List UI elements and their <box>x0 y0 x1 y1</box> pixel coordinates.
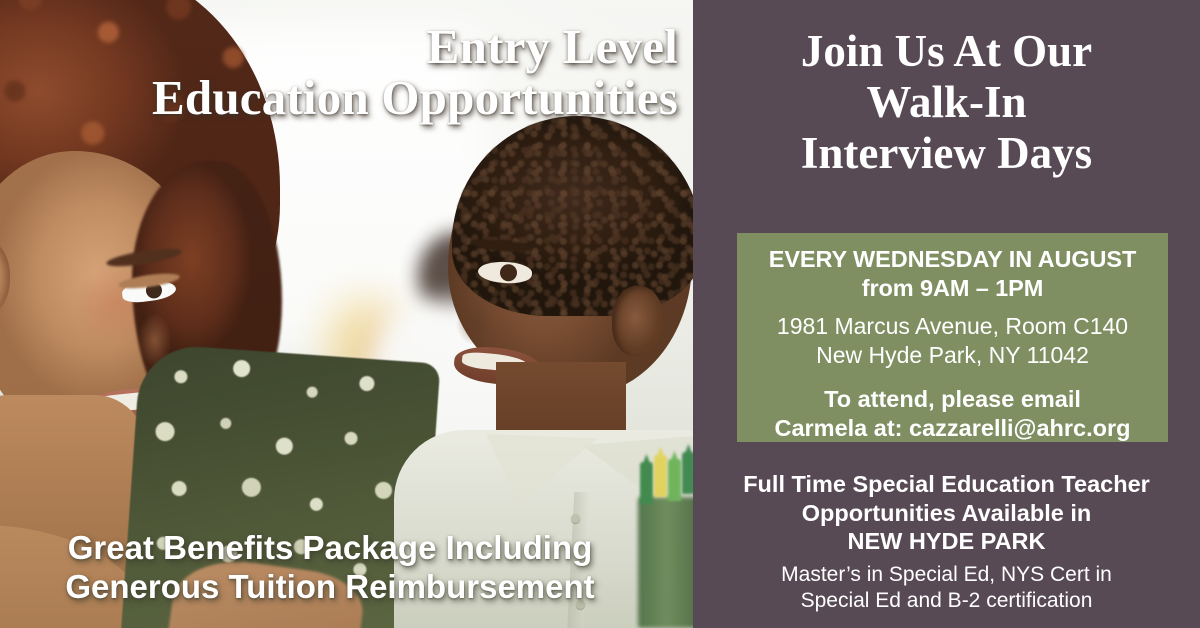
event-details-box: EVERY WEDNESDAY IN AUGUST from 9AM – 1PM… <box>737 233 1168 442</box>
event-schedule: EVERY WEDNESDAY IN AUGUST from 9AM – 1PM <box>745 245 1160 302</box>
recruitment-ad: Entry Level Education Opportunities Grea… <box>0 0 1200 628</box>
student-shirt-button <box>571 514 580 523</box>
marker-light-green <box>668 459 681 501</box>
left-headline: Entry Level Education Opportunities <box>0 22 678 124</box>
marker-dark-green <box>682 452 693 494</box>
student-nose <box>456 302 502 350</box>
event-address: 1981 Marcus Avenue, Room C140 New Hyde P… <box>745 312 1160 369</box>
benefits-text: Great Benefits Package Including Generou… <box>0 529 660 606</box>
marker-green <box>640 462 653 504</box>
role-description: Full Time Special Education Teacher Oppo… <box>709 470 1184 556</box>
event-contact[interactable]: To attend, please email Carmela at: cazz… <box>745 385 1160 443</box>
marker-yellow <box>654 455 667 497</box>
info-panel: Join Us At Our Walk-In Interview Days EV… <box>693 0 1200 628</box>
panel-title: Join Us At Our Walk-In Interview Days <box>693 26 1200 179</box>
role-requirements: Master’s in Special Ed, NYS Cert in Spec… <box>709 562 1184 615</box>
student-hair-texture <box>452 116 693 316</box>
photo-panel: Entry Level Education Opportunities Grea… <box>0 0 693 628</box>
